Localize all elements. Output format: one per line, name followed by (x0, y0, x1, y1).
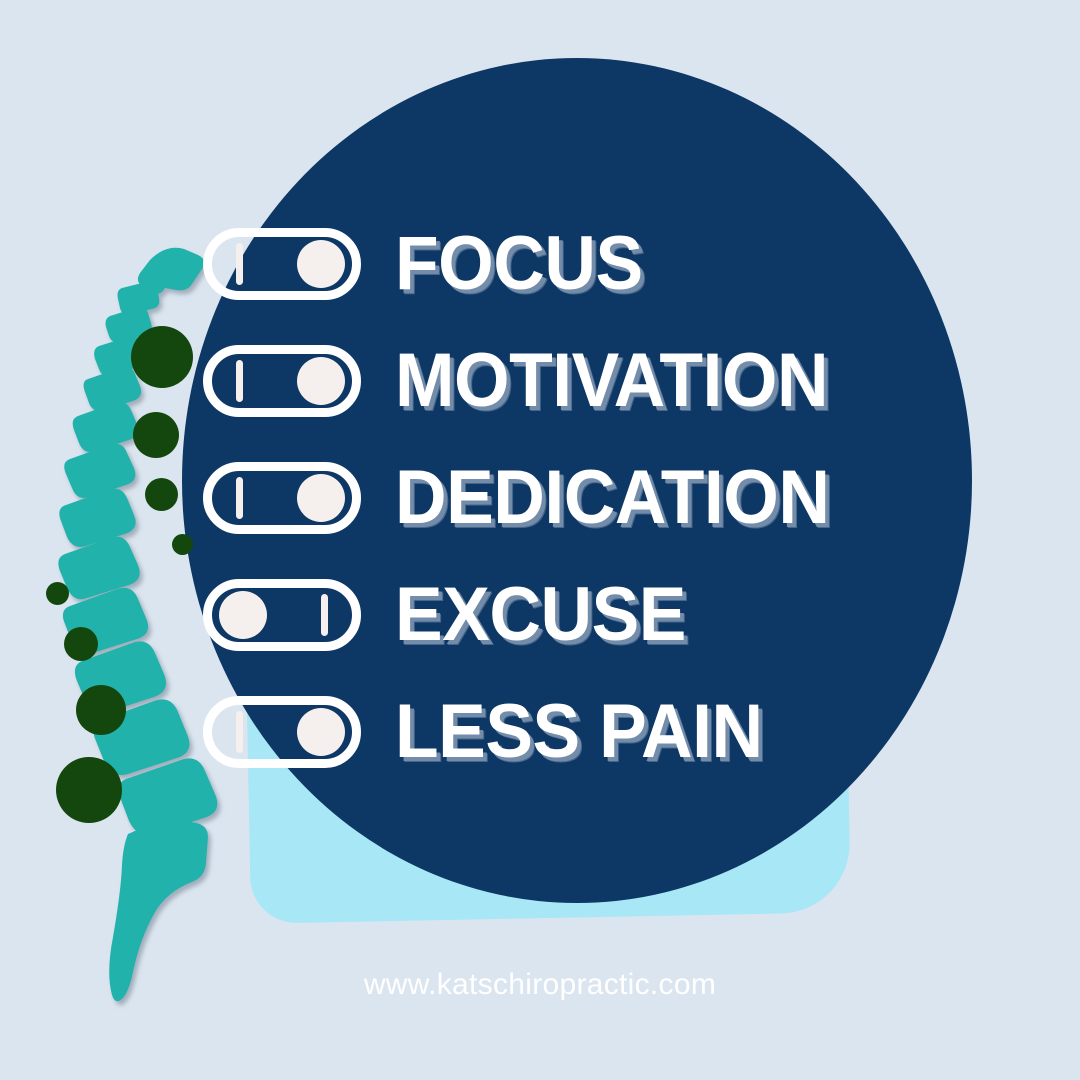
toggle-list: FOCUS MOTIVATION DEDICATION EXCUSE (0, 0, 1080, 1080)
toggle-knob-icon (297, 708, 345, 756)
toggle-label-dedication: DEDICATION (395, 460, 830, 536)
row-motivation: MOTIVATION (203, 333, 856, 429)
toggle-knob-icon (219, 591, 267, 639)
toggle-knob-icon (297, 474, 345, 522)
toggle-bar-icon (236, 477, 243, 519)
toggle-label-excuse: EXCUSE (395, 577, 686, 653)
toggle-focus[interactable] (203, 228, 361, 300)
toggle-bar-icon (236, 711, 243, 753)
toggle-label-less-pain: LESS PAIN (395, 694, 763, 770)
toggle-bar-icon (236, 243, 243, 285)
row-excuse: EXCUSE (203, 567, 705, 663)
toggle-motivation[interactable] (203, 345, 361, 417)
toggle-knob-icon (297, 357, 345, 405)
row-less-pain: LESS PAIN (203, 684, 786, 780)
toggle-less-pain[interactable] (203, 696, 361, 768)
website-url[interactable]: www.katschiropractic.com (0, 968, 1080, 1002)
toggle-label-focus: FOCUS (395, 226, 643, 302)
toggle-label-motivation: MOTIVATION (395, 343, 828, 419)
toggle-excuse[interactable] (203, 579, 361, 651)
toggle-knob-icon (297, 240, 345, 288)
row-focus: FOCUS (203, 216, 659, 312)
row-dedication: DEDICATION (203, 450, 857, 546)
toggle-bar-icon (321, 594, 328, 636)
toggle-bar-icon (236, 360, 243, 402)
toggle-dedication[interactable] (203, 462, 361, 534)
poster-canvas: FOCUS MOTIVATION DEDICATION EXCUSE (0, 0, 1080, 1080)
